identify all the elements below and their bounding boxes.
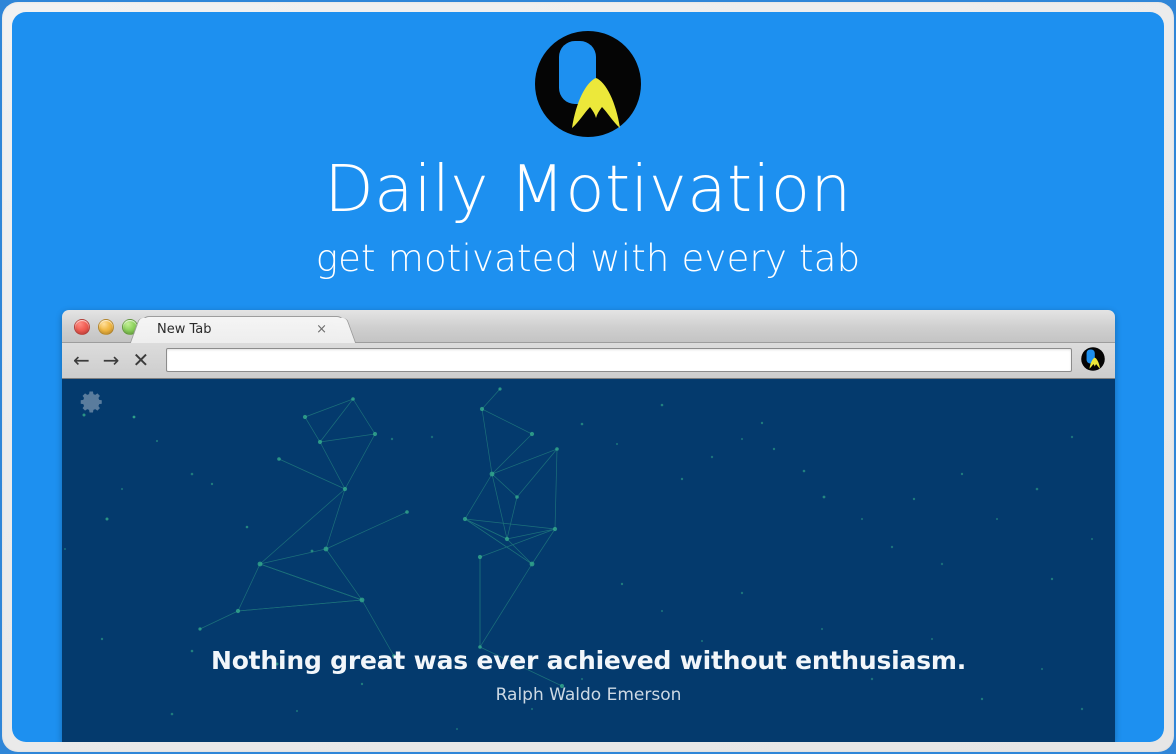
window-controls: [74, 319, 138, 335]
stop-icon[interactable]: ✕: [133, 349, 150, 371]
promo-card: Daily Motivation get motivated with ever…: [12, 12, 1164, 742]
quote-text: Nothing great was ever achieved without …: [62, 646, 1115, 675]
daily-motivation-logo: [534, 30, 642, 138]
hero-section: Daily Motivation get motivated with ever…: [12, 12, 1164, 277]
tab-label: New Tab: [157, 322, 212, 337]
address-bar[interactable]: [166, 348, 1072, 372]
minimize-window-button[interactable]: [98, 319, 114, 335]
daily-motivation-extension-icon[interactable]: [1081, 347, 1105, 371]
page-title: Daily Motivation: [12, 158, 1164, 222]
gear-icon[interactable]: [79, 389, 105, 415]
browser-titlebar: New Tab ×: [62, 310, 1115, 343]
page-subtitle: get motivated with every tab: [12, 240, 1164, 277]
browser-toolbar: ← → ✕: [62, 343, 1115, 379]
tab-new-tab[interactable]: New Tab ×: [142, 316, 344, 344]
browser-window: New Tab × ← → ✕: [62, 310, 1115, 742]
new-tab-page: Nothing great was ever achieved without …: [62, 379, 1115, 742]
promo-screenshot: Daily Motivation get motivated with ever…: [0, 0, 1176, 754]
forward-icon[interactable]: →: [103, 349, 120, 371]
close-window-button[interactable]: [74, 319, 90, 335]
back-icon[interactable]: ←: [73, 349, 90, 371]
quote-block: Nothing great was ever achieved without …: [62, 646, 1115, 705]
quote-author: Ralph Waldo Emerson: [62, 685, 1115, 705]
navigation-buttons: ← → ✕: [73, 349, 149, 371]
close-tab-icon[interactable]: ×: [316, 322, 327, 338]
